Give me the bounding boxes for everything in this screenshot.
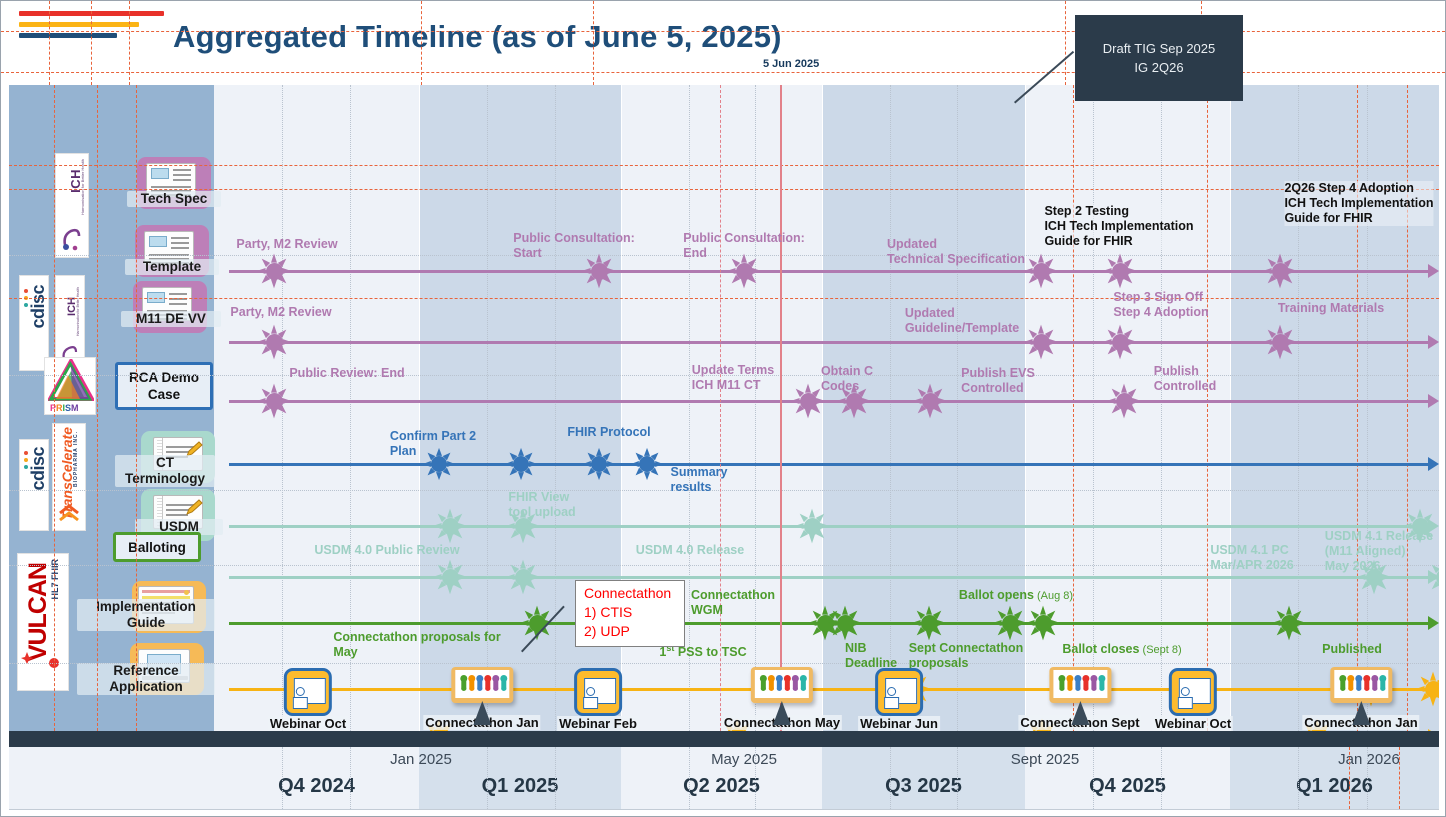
marker-ray — [1049, 339, 1058, 345]
marker-ray — [257, 398, 266, 404]
milestone-label: UpdatedTechnical Specification — [887, 237, 1025, 267]
bottom-event-label: Webinar Oct — [1153, 716, 1233, 731]
marker-ray — [842, 606, 848, 615]
grid-line — [755, 85, 756, 731]
quarter-label: Q3 2025 — [822, 775, 1025, 798]
label-line: Guide for FHIR — [1044, 234, 1193, 249]
label-line: Guide for FHIR — [1284, 211, 1433, 226]
milestone-label: PublishControlled — [1154, 364, 1217, 394]
marker-ray — [1026, 620, 1035, 626]
marker-ray — [805, 409, 811, 418]
label-line: Controlled — [961, 381, 1035, 396]
milestone-marker — [1103, 325, 1137, 359]
axis-month-sept-2025: Sept 2025 — [1011, 751, 1079, 768]
marker-ray — [927, 409, 933, 418]
marker-ray — [1263, 268, 1272, 274]
label-line: May 2026 — [1325, 559, 1433, 574]
marker-ray — [1128, 268, 1137, 274]
label-line: Update Terms — [692, 363, 774, 378]
draft-tig-callout: Draft TIG Sep 2025 IG 2Q26 — [1075, 15, 1243, 101]
grid-line — [890, 85, 891, 731]
marker-ray — [447, 585, 453, 594]
label-line: FHIR Protocol — [567, 425, 650, 440]
marker-ray — [596, 472, 602, 480]
label-line: Summary — [671, 465, 728, 480]
label-line: ICH Tech Implementation — [1044, 219, 1193, 234]
bottom-event[interactable]: Webinar Oct — [268, 668, 348, 731]
grid-line — [957, 85, 958, 731]
milestone-label: USDM 4.1 PCMar/APR 2026 — [1210, 543, 1293, 573]
grid-line — [1367, 747, 1368, 809]
label-line: Start — [513, 246, 635, 261]
bottom-event[interactable]: Connectathon Jan — [1302, 667, 1419, 730]
marker-ray — [1430, 672, 1436, 681]
marker-ray — [271, 384, 277, 393]
milestone-marker — [1024, 325, 1058, 359]
quarter-label: Q1 2025 — [419, 775, 621, 798]
label-line: Training Materials — [1278, 301, 1384, 316]
marker-ray — [525, 468, 535, 478]
bottom-event[interactable]: Connectathon Jan — [423, 667, 540, 730]
label-line: NIB — [845, 641, 897, 656]
lane-line-ct — [229, 525, 1431, 528]
callout-line: 2) UDP — [584, 622, 676, 641]
milestone-label: FHIR Protocol — [567, 425, 650, 440]
marker-ray — [520, 585, 526, 594]
label-line: Party, M2 Review — [236, 237, 337, 252]
marker-ray — [1277, 279, 1283, 288]
marker-ray — [1045, 275, 1056, 286]
marker-ray — [1272, 620, 1281, 626]
marker-ray — [912, 620, 921, 626]
grid-line — [350, 747, 351, 809]
marker-ray — [1103, 339, 1112, 345]
grid-line — [755, 747, 756, 809]
callout-line: Connectathon — [584, 584, 676, 603]
cdisc-logo-2: cdisc — [19, 439, 49, 531]
grid-line — [555, 747, 556, 809]
marker-ray — [278, 405, 289, 416]
milestone-label: USDM 4.0 Release — [636, 543, 744, 558]
marker-ray — [1357, 574, 1366, 580]
grid-line — [689, 85, 690, 731]
milestone-label: Publish EVSControlled — [961, 366, 1035, 396]
marker-ray — [278, 275, 289, 286]
marker-ray — [423, 461, 431, 467]
label-line: 2Q26 Step 4 Adoption — [1284, 181, 1433, 196]
bottom-event[interactable]: Webinar Jun — [858, 668, 940, 731]
marker-ray — [529, 461, 537, 467]
label-line: Public Consultation: — [683, 231, 805, 246]
milestone-marker — [433, 560, 467, 594]
marker-ray — [531, 523, 540, 529]
guide-line — [593, 1, 594, 85]
milestone-label: Sept Connectathonproposals — [909, 641, 1024, 671]
marker-ray — [282, 339, 291, 345]
marker-ray — [447, 461, 455, 467]
connectathon-callout: Connectathon 1) CTIS 2) UDP — [575, 580, 685, 647]
grid-line — [957, 747, 958, 809]
marker-ray — [1038, 279, 1044, 288]
marker-ray — [1277, 254, 1283, 263]
marker-ray — [651, 468, 661, 478]
milestone-marker — [506, 560, 540, 594]
marker-ray — [858, 405, 869, 416]
marker-ray — [805, 384, 811, 393]
label-line: Updated — [887, 237, 1025, 252]
milestone-label: FHIR Viewtool upload — [508, 490, 575, 520]
webinar-icon — [875, 668, 923, 716]
marker-ray — [993, 620, 1002, 626]
guide-line — [91, 1, 92, 85]
bottom-event[interactable]: Connectathon Sept — [1018, 667, 1141, 730]
milestone-label: Obtain CCodes — [821, 364, 873, 394]
milestone-label: Connectathon proposals forMay — [333, 630, 500, 660]
lane-arrow-template — [1428, 335, 1439, 349]
marker-ray — [518, 448, 524, 456]
marker-ray — [1117, 350, 1123, 359]
marker-ray — [1051, 620, 1060, 626]
milestone-marker — [505, 448, 537, 480]
marker-ray — [1284, 275, 1295, 286]
axis-month-jan-2026: Jan 2026 — [1338, 751, 1400, 768]
band-edge — [1230, 85, 1231, 731]
guide-line — [97, 85, 98, 731]
grid-line — [1093, 747, 1094, 809]
lane-arrow-rca — [1428, 457, 1439, 471]
label-line: Guideline/Template — [905, 321, 1019, 336]
marker-ray — [1297, 620, 1306, 626]
milestone-label: Step 2 TestingICH Tech ImplementationGui… — [1044, 204, 1193, 249]
ich-logo: ICH Harmonisation for Better Health — [55, 153, 89, 258]
label-line: ICH Tech Implementation — [1284, 196, 1433, 211]
label-line: Ballot opens (Aug 8) — [959, 588, 1073, 604]
marker-ray — [644, 472, 650, 480]
marker-ray — [816, 398, 825, 404]
milestone-label: Published — [1322, 642, 1382, 657]
marker-ray — [913, 398, 922, 404]
label-line: USDM 4.1 PC — [1210, 543, 1293, 558]
milestone-label: Confirm Part 2Plan — [390, 429, 476, 459]
milestone-label: UpdatedGuideline/Template — [905, 306, 1019, 336]
marker-ray — [257, 339, 266, 345]
guide-line — [1349, 747, 1350, 809]
milestone-label: Summaryresults — [671, 465, 728, 495]
logo-bar-navy — [19, 33, 117, 38]
milestone-marker — [631, 448, 663, 480]
guide-line — [1207, 85, 1208, 731]
axis-bottom-border — [9, 809, 1439, 810]
bottom-event-label: Webinar Feb — [557, 716, 639, 731]
marker-ray — [842, 631, 848, 640]
label-line: Step 2 Testing — [1044, 204, 1193, 219]
label-line: Codes — [821, 379, 873, 394]
marker-ray — [271, 350, 277, 359]
milestone-marker — [583, 448, 615, 480]
marker-ray — [1427, 574, 1436, 580]
connectathon-icon — [451, 667, 513, 713]
marker-ray — [505, 461, 513, 467]
marker-ray — [1417, 509, 1423, 518]
row-label-rca-demo-case: RCA Demo Case — [115, 362, 213, 410]
marker-ray — [727, 268, 736, 274]
marker-ray — [1371, 585, 1377, 594]
axis-quarter-q4-2024: Q4 2024 — [214, 747, 419, 809]
guide-line — [9, 298, 1439, 299]
marker-ray — [1121, 409, 1127, 418]
bottom-event-label: Webinar Jun — [858, 716, 940, 731]
bottom-event[interactable]: Connectathon May — [722, 667, 842, 730]
transcelerate-logo: TransCelerate BIOPHARMA INC. — [52, 423, 86, 531]
marker-ray — [443, 468, 453, 478]
marker-ray — [454, 581, 465, 592]
marker-ray — [752, 268, 761, 274]
milestone-label: Training Materials — [1278, 301, 1384, 316]
label-line: Controlled — [1154, 379, 1217, 394]
marker-ray — [1263, 339, 1272, 345]
marker-ray — [506, 574, 515, 580]
marker-ray — [582, 268, 591, 274]
label-line: Publish — [1154, 364, 1217, 379]
bottom-event[interactable]: Webinar Oct — [1153, 668, 1233, 731]
marker-ray — [812, 405, 823, 416]
marker-ray — [748, 275, 759, 286]
milestone-label: ConnectathonWGM — [691, 588, 775, 618]
label-line: End — [683, 246, 805, 261]
marker-ray — [282, 398, 291, 404]
row-label-tech-spec: Tech Spec — [127, 191, 221, 207]
milestone-marker — [257, 325, 291, 359]
lane-line-usdm — [229, 576, 1431, 579]
label-line: Plan — [390, 444, 476, 459]
milestone-label: NIBDeadline — [845, 641, 897, 671]
milestone-label: USDM 4.0 Public Review — [314, 543, 459, 558]
marker-ray — [527, 581, 538, 592]
marker-ray — [520, 560, 526, 569]
grid-line — [1161, 747, 1162, 809]
marker-ray — [1107, 398, 1116, 404]
label-line: Obtain C — [821, 364, 873, 379]
grid-line — [1161, 85, 1162, 731]
marker-ray — [506, 523, 515, 529]
marker-ray — [791, 398, 800, 404]
label-line: Connectathon — [691, 588, 775, 603]
label-line: ICH M11 CT — [692, 378, 774, 393]
guide-line — [9, 165, 1439, 166]
marker-ray — [816, 530, 827, 541]
marker-ray — [520, 534, 526, 543]
marker-ray — [531, 574, 540, 580]
marker-ray — [1277, 350, 1283, 359]
marker-ray — [1049, 268, 1058, 274]
marker-ray — [603, 468, 613, 478]
axis-quarter-q1-2026: Q1 2026 — [1230, 747, 1439, 809]
label-line: tool upload — [508, 505, 575, 520]
marker-ray — [607, 461, 615, 467]
marker-ray — [926, 631, 932, 640]
milestone-label: 2Q26 Step 4 AdoptionICH Tech Implementat… — [1284, 181, 1433, 226]
guide-line — [1065, 1, 1066, 85]
row-label-template: Template — [125, 259, 219, 275]
marker-ray — [603, 275, 614, 286]
marker-ray — [851, 409, 857, 418]
webinar-icon — [1169, 668, 1217, 716]
marker-ray — [1040, 606, 1046, 615]
marker-ray — [433, 523, 442, 529]
connectathon-icon — [1049, 667, 1111, 713]
milestone-marker — [1263, 325, 1297, 359]
marker-ray — [1284, 346, 1295, 357]
marker-ray — [837, 398, 846, 404]
marker-ray — [1014, 627, 1025, 638]
page-title: Aggregated Timeline (as of June 5, 2025) — [173, 19, 782, 55]
prism-logo: PRISM — [44, 357, 96, 415]
marker-ray — [596, 279, 602, 288]
lane-arrow-balloting — [1428, 616, 1439, 630]
milestone-label: USDM 4.1 Release(M11 Aligned)May 2026 — [1325, 529, 1433, 574]
grid-line — [555, 85, 556, 731]
marker-ray — [1124, 275, 1135, 286]
marker-ray — [1024, 268, 1033, 274]
label-line: Public Review: End — [289, 366, 404, 381]
webinar-icon — [284, 668, 332, 716]
marker-ray — [1293, 627, 1304, 638]
milestone-marker — [913, 384, 947, 418]
milestone-label: Step 3 Sign OffStep 4 Adoption — [1113, 290, 1208, 320]
lane-line-rca — [229, 463, 1431, 466]
grid-line — [487, 747, 488, 809]
label-line: Sept Connectathon — [909, 641, 1024, 656]
bottom-event[interactable]: Webinar Feb — [557, 668, 639, 731]
marker-ray — [1124, 346, 1135, 357]
guide-line — [1073, 85, 1074, 731]
milestone-marker — [257, 254, 291, 288]
marker-ray — [828, 620, 837, 626]
milestone-marker — [433, 509, 467, 543]
marker-ray — [741, 279, 747, 288]
marker-ray — [271, 409, 277, 418]
label-line: May — [333, 645, 500, 660]
marker-ray — [1103, 268, 1112, 274]
marker-ray — [271, 325, 277, 334]
marker-ray — [1382, 574, 1391, 580]
marker-ray — [1286, 631, 1292, 640]
marker-ray — [1378, 581, 1389, 592]
marker-ray — [938, 398, 947, 404]
axis-month-jan-2025: Jan 2025 — [390, 751, 452, 768]
milestone-marker — [791, 384, 825, 418]
marker-ray — [1117, 279, 1123, 288]
label-line: Updated — [905, 306, 1019, 321]
guide-line — [136, 85, 137, 731]
marker-ray — [436, 472, 442, 480]
quarter-label: Q1 2026 — [1230, 775, 1439, 798]
marker-ray — [809, 509, 815, 518]
marker-ray — [1430, 581, 1439, 592]
quarter-label: Q4 2025 — [1025, 775, 1230, 798]
today-marker-label: 5 Jun 2025 — [763, 58, 819, 70]
row-label-balloting: Balloting — [113, 532, 201, 562]
guide-line — [129, 1, 130, 85]
grid-line — [282, 747, 283, 809]
label-line: FHIR View — [508, 490, 575, 505]
connectathon-icon — [751, 667, 813, 713]
marker-ray — [1286, 606, 1292, 615]
label-line: Party, M2 Review — [230, 305, 331, 320]
milestone-label: Update TermsICH M11 CT — [692, 363, 774, 393]
marker-ray — [458, 523, 467, 529]
marker-ray — [1038, 325, 1044, 334]
milestone-label: Ballot opens (Aug 8) — [959, 588, 1073, 604]
grid-line — [1093, 85, 1094, 731]
marker-ray — [583, 461, 591, 467]
marker-ray — [809, 534, 815, 543]
marker-ray — [1007, 606, 1013, 615]
marker-ray — [934, 405, 945, 416]
milestone-label: Public Consultation:Start — [513, 231, 635, 261]
marker-ray — [271, 254, 277, 263]
marker-ray — [458, 574, 467, 580]
milestone-marker — [1026, 606, 1060, 640]
axis-quarter-q3-2025: Q3 2025 — [822, 747, 1025, 809]
lane-arrow-tech-spec — [1428, 264, 1439, 278]
axis-bar — [9, 731, 1439, 747]
marker-ray — [795, 523, 804, 529]
guide-line — [9, 189, 1439, 190]
marker-ray — [1117, 254, 1123, 263]
marker-ray — [1045, 346, 1056, 357]
webinar-icon — [574, 668, 622, 716]
marker-ray — [257, 268, 266, 274]
marker-ray — [1040, 631, 1046, 640]
timeline-chart: ICH Harmonisation for Better Health cdis… — [9, 85, 1439, 731]
label-line: Connectathon proposals for — [333, 630, 500, 645]
marker-ray — [1024, 339, 1033, 345]
guide-line — [421, 1, 422, 85]
milestone-label: Public Review: End — [289, 366, 404, 381]
lane-arrow-m11 — [1428, 394, 1439, 408]
marker-ray — [1038, 254, 1044, 263]
axis-month-may-2025: May 2025 — [711, 751, 777, 768]
marker-ray — [644, 448, 650, 456]
marker-ray — [1117, 325, 1123, 334]
grid-line — [689, 747, 690, 809]
axis-quarters: Q4 2024 Q1 2025 Q2 2025 Q3 2025 Q4 2025 … — [9, 747, 1439, 809]
marker-ray — [607, 268, 616, 274]
milestone-label: Ballot closes (Sept 8) — [1062, 642, 1181, 658]
grid-line — [890, 747, 891, 809]
marker-ray — [596, 448, 602, 456]
label-line: Step 4 Adoption — [1113, 305, 1208, 320]
label-line: USDM 4.0 Public Review — [314, 543, 459, 558]
label-line: results — [671, 480, 728, 495]
lane-line-m11-de-vv — [229, 400, 1431, 403]
milestone-label: Party, M2 Review — [230, 305, 331, 320]
label-line: Technical Specification — [887, 252, 1025, 267]
milestone-label: Party, M2 Review — [236, 237, 337, 252]
callout-line: Draft TIG Sep 2025 — [1103, 39, 1216, 58]
lane-line-template — [229, 341, 1431, 344]
marker-ray — [1132, 398, 1141, 404]
marker-ray — [1288, 268, 1297, 274]
marker-ray — [926, 606, 932, 615]
marker-ray — [853, 620, 862, 626]
marker-ray — [820, 523, 829, 529]
guide-line — [49, 1, 50, 85]
milestone-marker — [1263, 254, 1297, 288]
marker-ray — [1277, 325, 1283, 334]
milestone-marker — [912, 606, 946, 640]
